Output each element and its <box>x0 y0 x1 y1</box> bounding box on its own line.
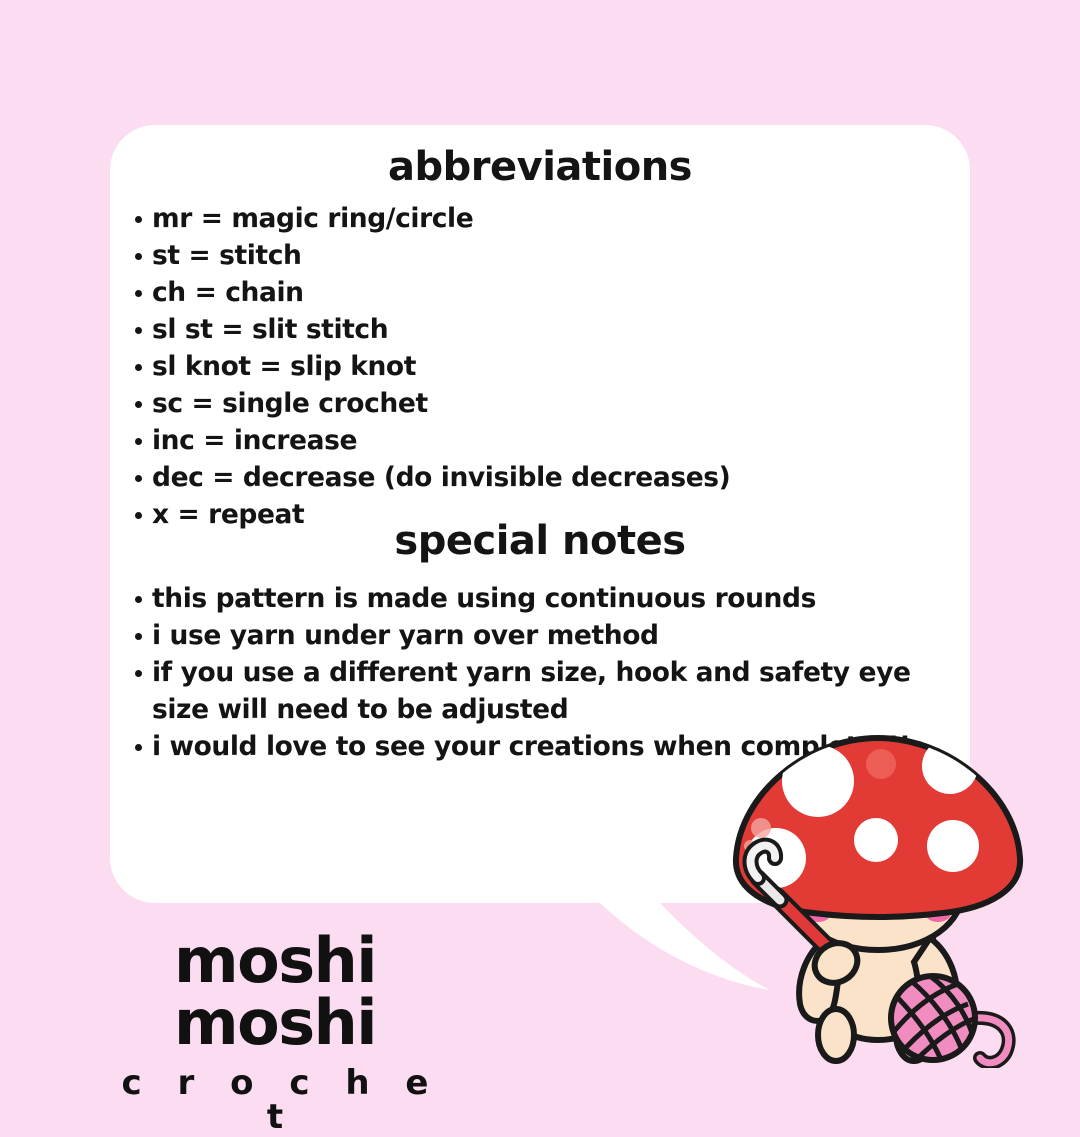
mushroom-mascot-icon <box>718 718 1038 1068</box>
abbreviations-heading: abbreviations <box>110 144 970 190</box>
poster-canvas: abbreviations mr = magic ring/circle st … <box>0 0 1080 1080</box>
cap-highlight <box>751 818 771 838</box>
mushroom-cap <box>736 718 1038 918</box>
list-item: ch = chain <box>110 274 930 311</box>
cap-spot-faint <box>866 749 896 779</box>
list-item: this pattern is made using continuous ro… <box>110 580 960 617</box>
abbreviations-list: mr = magic ring/circle st = stitch ch = … <box>110 200 930 533</box>
list-item: sl st = slit stitch <box>110 311 930 348</box>
list-item: sc = single crochet <box>110 385 930 422</box>
brand-logo: moshi moshi c r o c h e t <box>85 930 465 1134</box>
cap-spot <box>854 818 898 862</box>
list-item: inc = increase <box>110 422 930 459</box>
list-item: dec = decrease (do invisible decreases) <box>110 459 930 496</box>
cap-spot <box>782 745 854 817</box>
yarn-ball-icon <box>891 976 1009 1063</box>
list-item: st = stitch <box>110 237 930 274</box>
cap-spot <box>927 820 979 872</box>
list-item: mr = magic ring/circle <box>110 200 930 237</box>
list-item: i use yarn under yarn over method <box>110 617 960 654</box>
special-notes-heading: special notes <box>110 518 970 564</box>
list-item: if you use a different yarn size, hook a… <box>110 654 960 728</box>
list-item: sl knot = slip knot <box>110 348 930 385</box>
brand-name: moshi moshi <box>85 930 465 1054</box>
brand-tagline: c r o c h e t <box>85 1066 465 1134</box>
